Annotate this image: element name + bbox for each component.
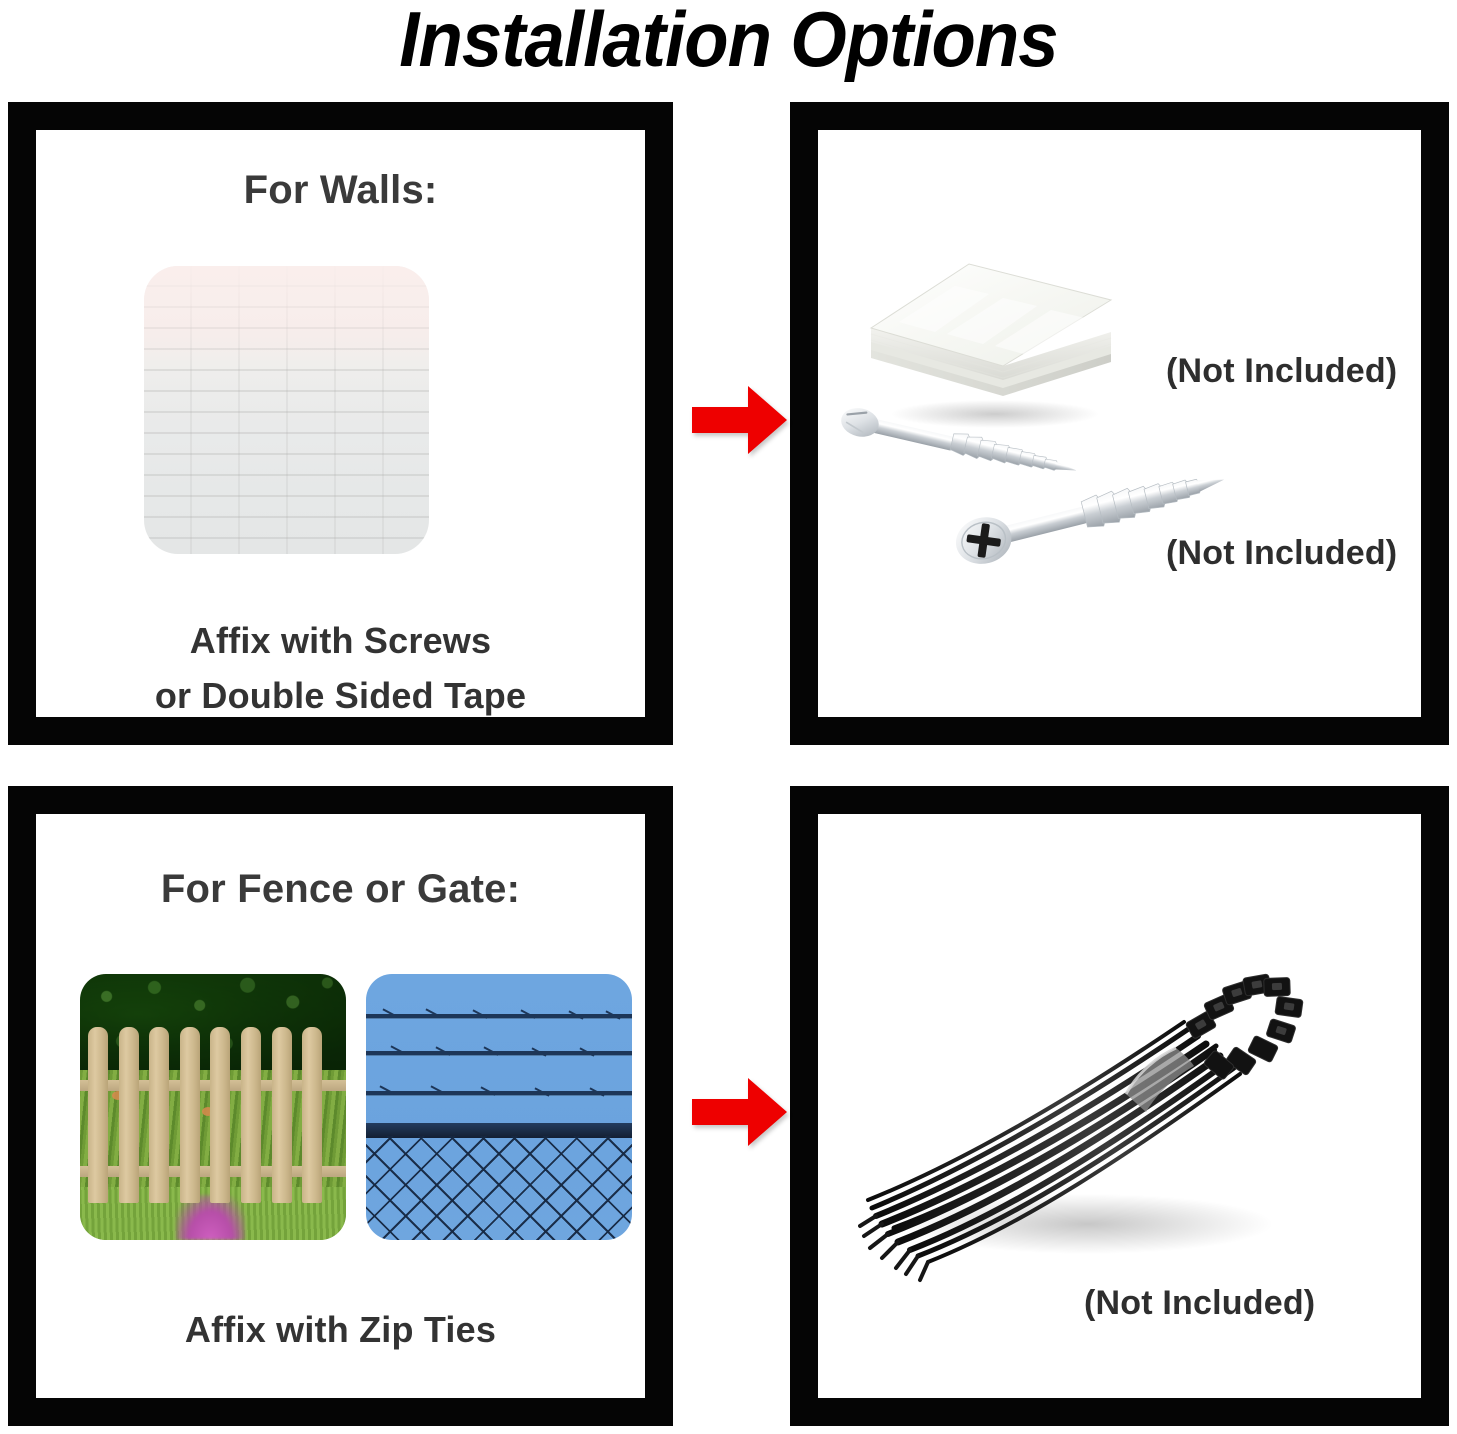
walls-caption-line-1: Affix with Screws (36, 620, 645, 662)
zipties-not-included-label: (Not Included) (1084, 1284, 1315, 1323)
panel-wall-hardware: (Not Included) (790, 102, 1449, 745)
screws-not-included-label: (Not Included) (1166, 534, 1397, 573)
red-right-arrow-icon (692, 382, 788, 458)
black-zip-ties-bundle-photo (858, 924, 1318, 1284)
chain-link-mesh (366, 1136, 632, 1240)
panel-for-fence-or-gate: For Fence or Gate: (8, 786, 673, 1426)
walls-caption-line-2: or Double Sided Tape (36, 675, 645, 717)
fence-picket (272, 1027, 292, 1203)
barbed-wire-strand (366, 1014, 632, 1018)
for-walls-heading: For Walls: (36, 168, 645, 213)
barbed-wire-strand (366, 1091, 632, 1095)
fence-caption-line-1: Affix with Zip Ties (36, 1309, 645, 1351)
fence-picket (210, 1027, 230, 1203)
wall-highlight-wash (144, 266, 429, 375)
fence-picket (88, 1027, 108, 1203)
fence-picket (119, 1027, 139, 1203)
fence-picket (241, 1027, 261, 1203)
tape-not-included-label: (Not Included) (1166, 352, 1397, 391)
panel-for-walls: For Walls: Affix with Screws or Double S… (8, 102, 673, 745)
wooden-picket-fence-photo (80, 974, 346, 1240)
chain-link-barbed-wire-fence-photo (366, 974, 632, 1240)
panel-zip-ties: (Not Included) (790, 786, 1449, 1426)
fence-picket (180, 1027, 200, 1203)
page-title: Installation Options (51, 0, 1406, 82)
white-brick-wall-photo (144, 266, 429, 554)
red-right-arrow-icon (692, 1074, 788, 1150)
for-fence-or-gate-heading: For Fence or Gate: (36, 867, 645, 912)
fence-picket (302, 1027, 322, 1203)
fence-picket (149, 1027, 169, 1203)
